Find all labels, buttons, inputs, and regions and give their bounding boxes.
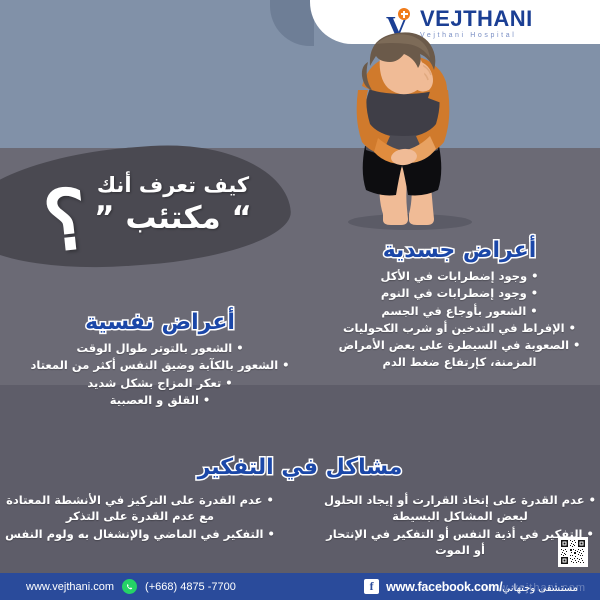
footer-facebook-link[interactable]: www.facebook.com/مستشفى وجتهاني — [386, 580, 578, 594]
section-heading-thinking: مشاكل في التفكير — [198, 455, 403, 480]
physical-symptoms-list: • وجود إضطرابات في الأكل • وجود إضطرابات… — [337, 268, 582, 370]
footer-social-group: f www.facebook.com/مستشفى وجتهاني — [364, 579, 600, 594]
list-item: • وجود إضطرابات في الأكل — [337, 268, 582, 284]
list-item: • وجود إضطرابات في النوم — [337, 285, 582, 301]
section-thinking-problems-heading-wrap: مشاكل في التفكير — [0, 455, 600, 480]
footer-contact-group: www.vejthani.com (+668) 4875 -7700 — [0, 579, 236, 594]
thinking-list-right: • عدم القدرة على التركيز في الأنشطة المع… — [0, 492, 280, 542]
list-item: • تعكر المزاج بشكل شديد — [10, 375, 310, 391]
section-thinking-problems: • عدم القدرة على التركيز في الأنشطة المع… — [0, 492, 600, 559]
list-item: • الإفراط في التدخين أو شرب الكحوليات — [337, 320, 582, 336]
list-item: • الشعور بالكآبة وضيق النفس أكثر من المع… — [10, 357, 310, 373]
footer-phone-number[interactable]: (+668) 4875 -7700 — [145, 581, 236, 593]
list-item: • الشعور بأوجاع في الجسم — [337, 303, 582, 319]
section-physical-symptoms: أعراض جسدية • وجود إضطرابات في الأكل • و… — [337, 238, 582, 371]
list-item: • القلق و العصبية — [10, 392, 310, 408]
question-mark-icon: ؟ — [40, 184, 91, 260]
list-item: • عدم القدرة على التركيز في الأنشطة المع… — [0, 492, 280, 525]
whatsapp-icon[interactable] — [122, 579, 137, 594]
list-item: • التفكير في الماضي والإنشغال به ولوم ال… — [0, 526, 280, 542]
list-item: • عدم القدرة على إتخاذ القرارت أو إيجاد … — [320, 492, 600, 525]
facebook-icon[interactable]: f — [364, 579, 379, 594]
facebook-page-arabic: مستشفى وجتهاني — [502, 583, 578, 594]
section-heading-psychological: أعراض نفسية — [10, 310, 310, 335]
list-item: • الصعوبة في السيطرة على بعض الأمراض الم… — [337, 337, 582, 370]
section-psychological-symptoms: أعراض نفسية • الشعور بالتوتر طوال الوقت … — [10, 310, 310, 409]
facebook-url-text: www.facebook.com/ — [386, 580, 502, 594]
footer-website-link[interactable]: www.vejthani.com — [26, 581, 114, 593]
medical-cross-icon — [398, 8, 410, 20]
qr-code[interactable] — [558, 537, 588, 567]
section-heading-physical: أعراض جسدية — [337, 238, 582, 263]
psychological-symptoms-list: • الشعور بالتوتر طوال الوقت • الشعور بال… — [10, 340, 310, 408]
list-item: • الشعور بالتوتر طوال الوقت — [10, 340, 310, 356]
footer-bar: www.vejthani.com (+668) 4875 -7700 f www… — [0, 573, 600, 600]
thinking-column-right: • عدم القدرة على التركيز في الأنشطة المع… — [0, 492, 286, 559]
depressed-person-illustration — [318, 26, 488, 231]
infographic-poster: V VEJTHANI Vejthani Hospital — [0, 0, 600, 600]
